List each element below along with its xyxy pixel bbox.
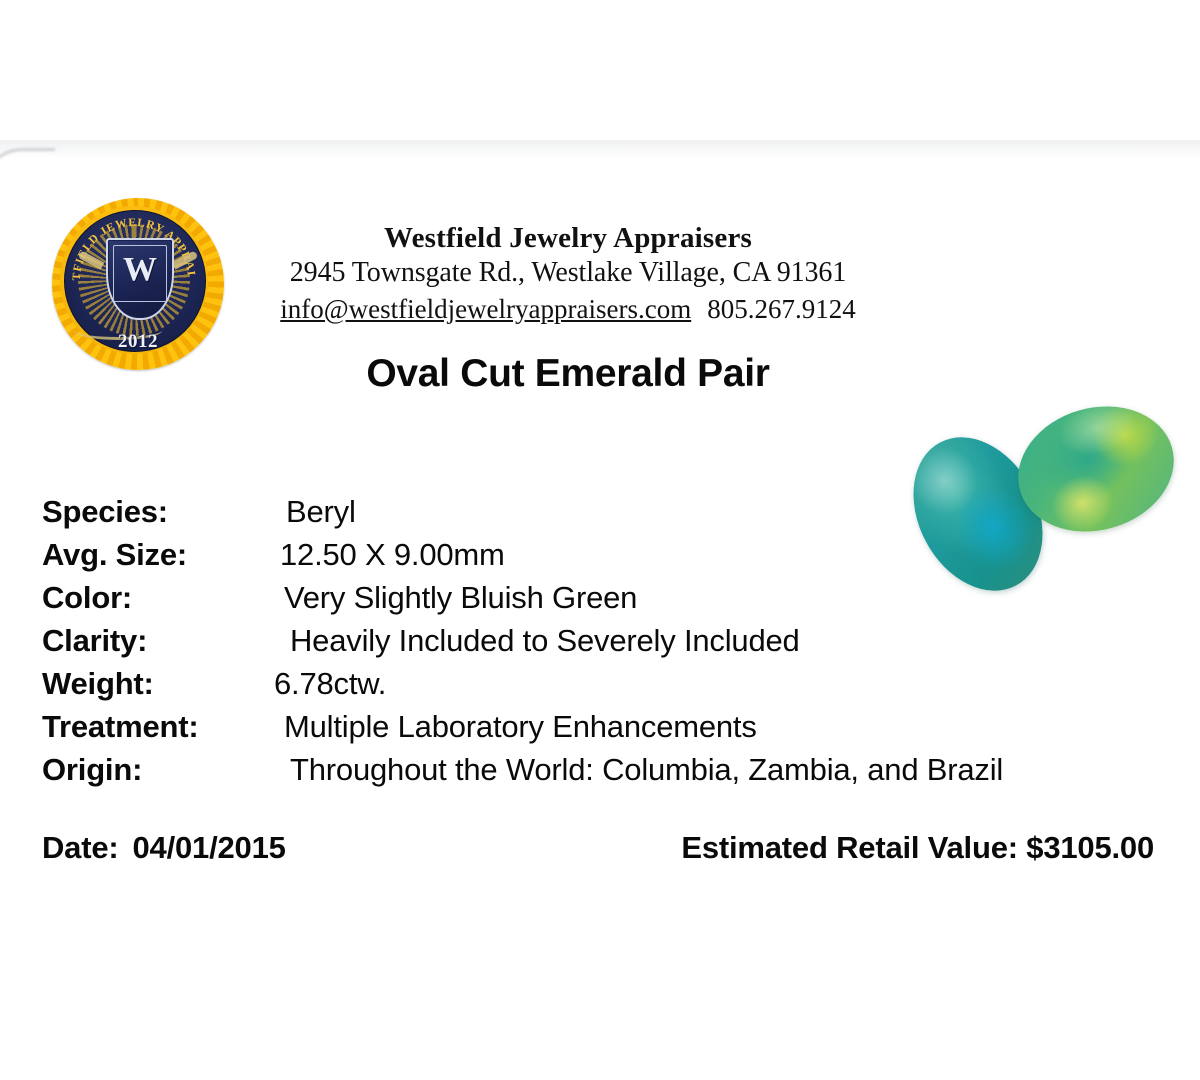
spec-row: Color:Very Slightly Bluish Green	[42, 580, 1162, 623]
spec-label: Avg. Size:	[42, 537, 187, 573]
card-footer: Date:04/01/2015 Estimated Retail Value: …	[42, 830, 1162, 880]
spec-value: Heavily Included to Severely Included	[290, 623, 800, 659]
specifications-list: Species:BerylAvg. Size:12.50 X 9.00mmCol…	[42, 494, 1162, 795]
scan-edge-artifact	[0, 140, 1200, 158]
spec-row: Avg. Size:12.50 X 9.00mm	[42, 537, 1162, 580]
spec-value: Very Slightly Bluish Green	[284, 580, 637, 616]
spec-label: Treatment:	[42, 709, 198, 745]
company-contact-line: info@westfieldjewelryappraisers.com805.2…	[248, 293, 888, 325]
company-email-link[interactable]: info@westfieldjewelryappraisers.com	[280, 294, 691, 324]
spec-value: Multiple Laboratory Enhancements	[284, 709, 757, 745]
retail-value-label: Estimated Retail Value:	[681, 830, 1018, 865]
spec-value: 6.78ctw.	[274, 666, 386, 702]
spec-label: Color:	[42, 580, 132, 616]
retail-value-amount: $3105.00	[1026, 830, 1154, 865]
spec-row: Treatment:Multiple Laboratory Enhancemen…	[42, 709, 1162, 752]
spec-label: Weight:	[42, 666, 154, 702]
company-phone: 805.267.9124	[707, 294, 856, 324]
product-title: Oval Cut Emerald Pair	[248, 352, 888, 396]
spec-row: Species:Beryl	[42, 494, 1162, 537]
spec-label: Clarity:	[42, 623, 147, 659]
spec-row: Weight:6.78ctw.	[42, 666, 1162, 709]
appraisal-card: WESTFIELD JEWELRY APPRAISERS W 2012 West…	[0, 0, 1200, 1080]
card-header: WESTFIELD JEWELRY APPRAISERS W 2012 West…	[0, 180, 1200, 410]
seal-monogram: W	[108, 253, 172, 287]
spec-value: 12.50 X 9.00mm	[280, 537, 505, 573]
spec-value: Throughout the World: Columbia, Zambia, …	[290, 752, 1003, 788]
appraisal-date: Date:04/01/2015	[42, 830, 286, 866]
spec-label: Origin:	[42, 752, 142, 788]
spec-row: Origin:Throughout the World: Columbia, Z…	[42, 752, 1162, 795]
company-seal-logo: WESTFIELD JEWELRY APPRAISERS W 2012	[48, 194, 228, 374]
company-name: Westfield Jewelry Appraisers	[248, 222, 888, 254]
estimated-retail-value: Estimated Retail Value: $3105.00	[681, 830, 1154, 866]
company-info-block: Westfield Jewelry Appraisers 2945 Townsg…	[248, 222, 888, 325]
spec-row: Clarity:Heavily Included to Severely Inc…	[42, 623, 1162, 666]
date-value: 04/01/2015	[133, 830, 286, 865]
spec-label: Species:	[42, 494, 168, 530]
seal-year: 2012	[48, 331, 228, 353]
spec-value: Beryl	[286, 494, 356, 530]
date-label: Date:	[42, 830, 119, 865]
company-address: 2945 Townsgate Rd., Westlake Village, CA…	[248, 256, 888, 290]
